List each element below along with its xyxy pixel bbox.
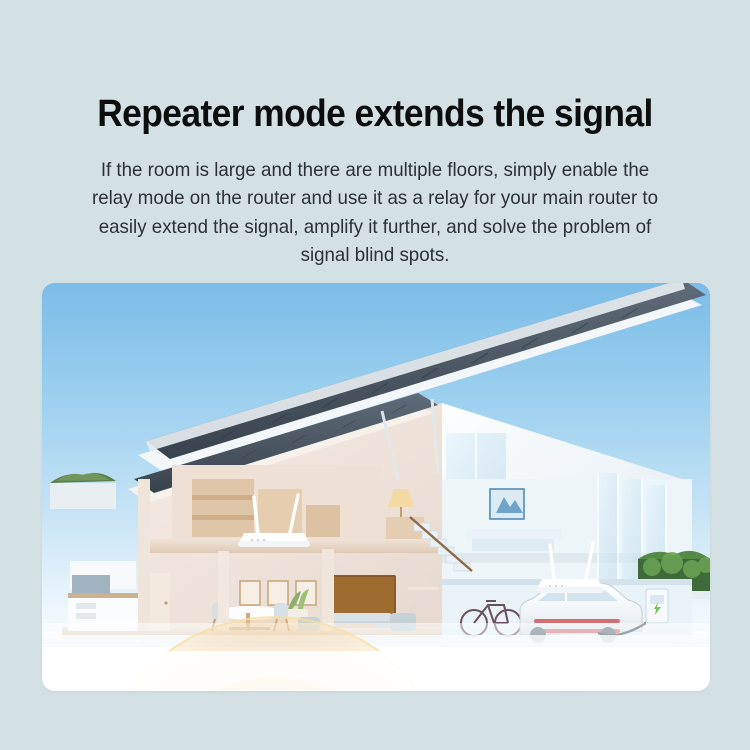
house-cutaway-illustration	[42, 283, 710, 691]
console-table	[466, 529, 562, 551]
kitchen	[68, 561, 138, 631]
page-title: Repeater mode extends the signal	[26, 93, 724, 136]
page-description: If the room is large and there are multi…	[87, 156, 663, 270]
planter-box	[50, 473, 116, 509]
column-left	[138, 479, 150, 631]
column-mid	[218, 551, 229, 631]
illustration-card	[42, 283, 710, 691]
wall-shelf	[408, 587, 438, 590]
promo-page: Repeater mode extends the signal If the …	[0, 0, 750, 750]
framed-art	[490, 489, 524, 519]
column-center	[322, 549, 334, 631]
